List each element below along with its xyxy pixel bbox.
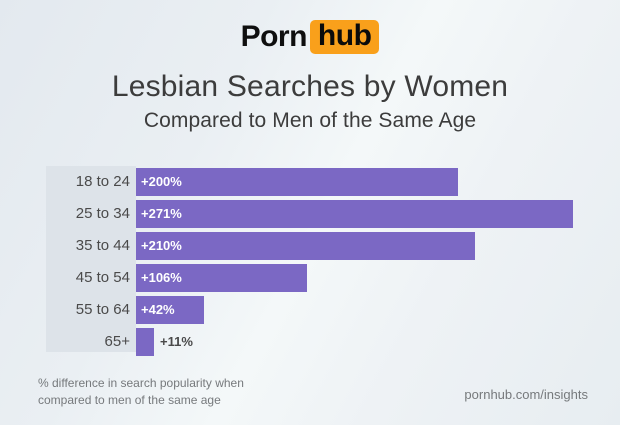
bar-row: 65++11% — [46, 328, 606, 356]
bar-chart: 18 to 24+200%25 to 34+271%35 to 44+210%4… — [0, 0, 620, 425]
bar-value-label: +271% — [141, 200, 182, 228]
bar-category-label: 25 to 34 — [46, 200, 130, 228]
bar-category-label: 18 to 24 — [46, 168, 130, 196]
bar-category-label: 65+ — [46, 328, 130, 356]
bar-category-label: 45 to 54 — [46, 264, 130, 292]
bar-value-label: +200% — [141, 168, 182, 196]
bar-category-label: 35 to 44 — [46, 232, 130, 260]
bar-row: 18 to 24+200% — [46, 168, 606, 196]
bar-segment — [136, 328, 154, 356]
bar-category-label: 55 to 64 — [46, 296, 130, 324]
footnote-line-2: compared to men of the same age — [38, 392, 338, 409]
bar-segment — [136, 200, 573, 228]
bar-value-label: +210% — [141, 232, 182, 260]
footnote-line-1: % difference in search popularity when — [38, 375, 338, 392]
bar-value-label: +11% — [160, 328, 193, 356]
bar-value-label: +106% — [141, 264, 182, 292]
bar-segment — [136, 232, 475, 260]
bar-row: 45 to 54+106% — [46, 264, 606, 292]
bar-row: 25 to 34+271% — [46, 200, 606, 228]
bar-row: 35 to 44+210% — [46, 232, 606, 260]
bar-row: 55 to 64+42% — [46, 296, 606, 324]
bar-value-label: +42% — [141, 296, 175, 324]
source-url: pornhub.com/insights — [464, 387, 588, 402]
chart-footnote: % difference in search popularity when c… — [38, 375, 338, 410]
bar-segment — [136, 168, 458, 196]
